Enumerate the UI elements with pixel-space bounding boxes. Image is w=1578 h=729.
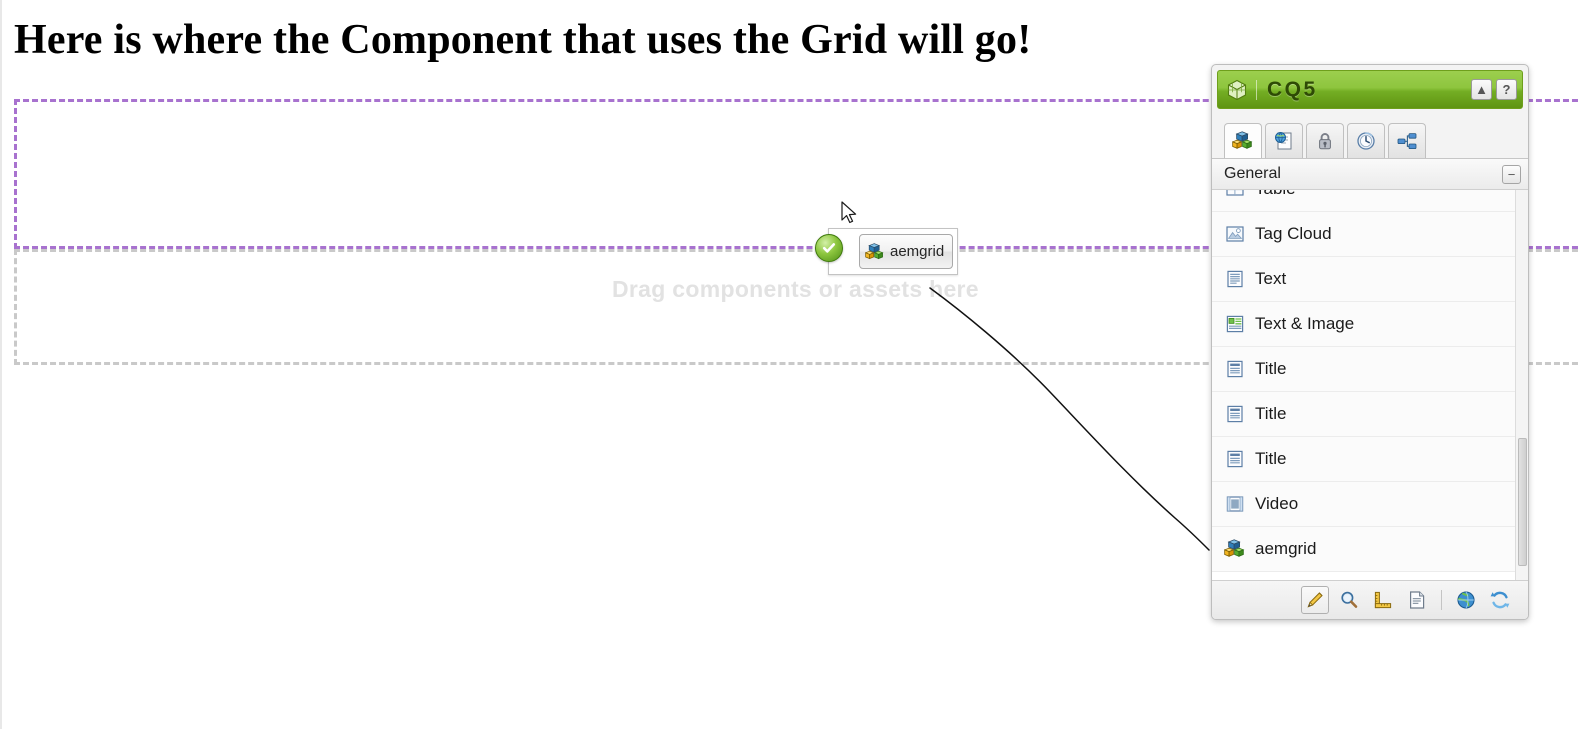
list-item-label: Table [1255, 190, 1296, 199]
video-icon [1224, 493, 1246, 515]
page-left-rule [0, 0, 2, 729]
component-list-viewport: Table Tag Cloud [1212, 190, 1528, 581]
clock-icon [1355, 130, 1377, 152]
list-item-label: Tag Cloud [1255, 224, 1332, 244]
dropzone-hint-text: Drag components or assets here [612, 276, 1012, 303]
page-root: Here is where the Component that uses th… [0, 0, 1578, 729]
list-item-label: Video [1255, 494, 1298, 514]
padlock-icon [1314, 130, 1336, 152]
component-list-scrollbar[interactable] [1515, 190, 1528, 580]
list-item-label: Text [1255, 269, 1286, 289]
cq5-cube-logo-icon [1226, 79, 1248, 101]
cq5-sidekick[interactable]: CQ5 ▲ ? [1211, 64, 1529, 620]
drag-ghost-button[interactable]: aemgrid [859, 234, 953, 269]
titlebar-divider [1256, 80, 1257, 100]
sidekick-title: CQ5 [1267, 78, 1467, 102]
tagcloud-icon [1224, 223, 1246, 245]
sidekick-titlebar[interactable]: CQ5 ▲ ? [1217, 70, 1523, 109]
edit-mode-button[interactable] [1301, 586, 1329, 614]
list-item-title-2[interactable]: Title [1212, 392, 1515, 437]
publish-button[interactable] [1452, 586, 1480, 614]
section-header-general[interactable]: General − [1212, 159, 1528, 190]
section-collapse-button[interactable]: − [1502, 165, 1521, 184]
list-item-label: Text & Image [1255, 314, 1354, 334]
title-icon [1224, 403, 1246, 425]
list-item-label: Title [1255, 449, 1287, 469]
drag-ghost-panel[interactable]: aemgrid [828, 228, 958, 275]
scrollbar-thumb[interactable] [1518, 438, 1527, 566]
mouse-cursor-icon [840, 200, 862, 228]
list-item-aemgrid[interactable]: aemgrid [1212, 527, 1515, 572]
list-item-title-3[interactable]: Title [1212, 437, 1515, 482]
tab-versioning[interactable] [1347, 123, 1385, 158]
list-item-text-and-image[interactable]: Text & Image [1212, 302, 1515, 347]
list-item-title-1[interactable]: Title [1212, 347, 1515, 392]
section-title: General [1224, 165, 1502, 183]
green-check-icon [815, 234, 843, 262]
pencil-icon [1304, 589, 1326, 611]
refresh-button[interactable] [1486, 586, 1514, 614]
list-item-label: Title [1255, 359, 1287, 379]
components-cubes-icon [1232, 130, 1254, 152]
list-item-text[interactable]: Text [1212, 257, 1515, 302]
title-icon [1224, 448, 1246, 470]
tab-components[interactable] [1224, 123, 1262, 158]
footer-separator [1441, 590, 1442, 610]
aemgrid-cubes-icon [865, 242, 885, 262]
tab-page[interactable] [1265, 123, 1303, 158]
component-list: Table Tag Cloud [1212, 190, 1515, 572]
sidekick-footer-toolbar [1212, 581, 1528, 619]
list-item-tag-cloud[interactable]: Tag Cloud [1212, 212, 1515, 257]
list-item-table[interactable]: Table [1212, 190, 1515, 212]
ruler-icon [1372, 589, 1394, 611]
page-globe-document-icon [1273, 130, 1295, 152]
table-icon [1224, 190, 1246, 200]
tab-workflow[interactable] [1388, 123, 1426, 158]
design-mode-button[interactable] [1369, 586, 1397, 614]
list-item-label: aemgrid [1255, 539, 1316, 559]
magnifier-icon [1338, 589, 1360, 611]
help-button[interactable]: ? [1496, 79, 1517, 100]
drag-ghost-label: aemgrid [890, 243, 944, 260]
collapse-button[interactable]: ▲ [1471, 79, 1492, 100]
preview-mode-button[interactable] [1335, 586, 1363, 614]
text-icon [1224, 268, 1246, 290]
sidekick-tabs [1212, 117, 1528, 159]
page-title: Here is where the Component that uses th… [14, 13, 1194, 67]
list-item-label: Title [1255, 404, 1287, 424]
text-image-icon [1224, 313, 1246, 335]
globe-icon [1455, 589, 1477, 611]
title-icon [1224, 358, 1246, 380]
refresh-icon [1489, 589, 1511, 611]
annotate-mode-button[interactable] [1403, 586, 1431, 614]
document-icon [1406, 589, 1428, 611]
tab-security[interactable] [1306, 123, 1344, 158]
list-item-video[interactable]: Video [1212, 482, 1515, 527]
aemgrid-cubes-icon [1224, 538, 1246, 560]
workflow-nodes-icon [1396, 130, 1418, 152]
